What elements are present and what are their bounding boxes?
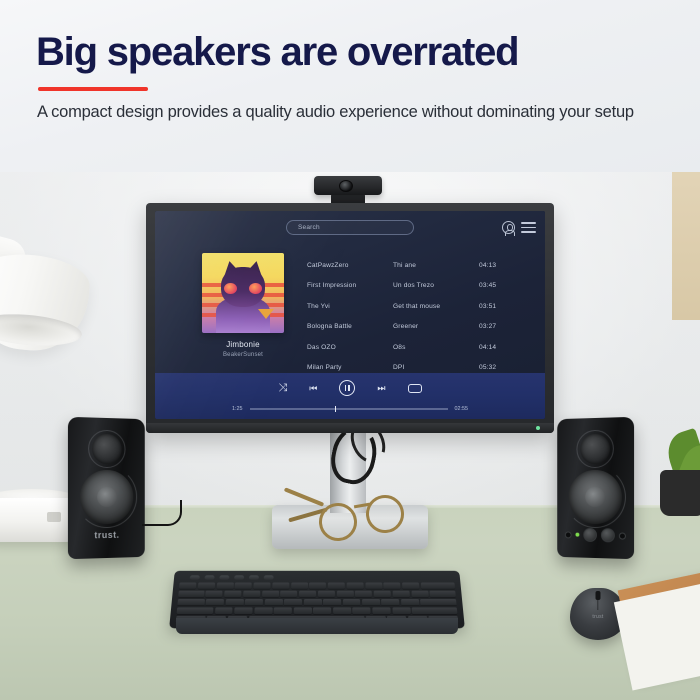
keyboard-row [178,591,456,598]
table-row[interactable]: CatPawzZero Thi ane 04:13 [307,255,531,276]
left-speaker: trust. [68,417,145,559]
track-time: 04:13 [479,262,519,269]
playback-controls: ⤨ ⏮ ⏭ [155,380,545,396]
track-time: 03:51 [479,303,519,310]
keyboard-fn-row [180,575,454,580]
page-title: Big speakers are overrated [36,30,518,75]
album-title: Jimbonie [226,340,260,349]
right-speaker [557,417,634,559]
keyboard-palm-rest [176,618,458,634]
lamp-switch[interactable] [47,512,61,522]
app-topbar: Search [155,211,545,245]
track-time: 05:32 [479,364,519,371]
table-row[interactable]: Bologna Battle Greener 03:27 [307,317,531,338]
search-input[interactable]: Search [286,220,414,235]
speaker-cable [142,500,182,526]
track-time: 03:27 [479,323,519,330]
search-placeholder: Search [287,224,320,231]
page-subtitle: A compact design provides a quality audi… [37,102,657,122]
plant-pot [660,470,700,516]
speaker-controls [563,523,628,546]
track-time: 03:45 [479,282,519,289]
now-playing-panel: Jimbonie BeakerSunset [189,253,297,358]
track-name: First Impression [307,282,393,289]
table-row[interactable]: First Impression Un dos Trezo 03:45 [307,276,531,297]
repeat-icon[interactable] [408,384,422,393]
keyboard-row [177,599,456,606]
volume-knob[interactable] [583,528,597,542]
speaker-brand-logo: trust. [94,530,119,541]
track-name: The Yvi [307,303,393,310]
track-album: Thi ane [393,262,479,269]
track-name: Das OZO [307,344,393,351]
next-track-icon[interactable]: ⏭ [377,384,385,393]
accent-underline [38,87,148,91]
desktop-monitor: Search [146,203,554,433]
track-album: O8s [393,344,479,351]
headphone-jack[interactable] [565,531,572,538]
keyboard-keys [177,575,458,615]
power-led-icon [536,426,540,430]
monitor-screen: Search [155,211,545,419]
elapsed-time: 1:25 [232,406,243,412]
hamburger-menu-icon[interactable] [521,222,536,233]
keyboard-row [177,607,458,614]
player-bar: ⤨ ⏮ ⏭ 1:25 02:55 [155,373,545,419]
woofer-dome [585,487,605,507]
tweeter-driver [92,434,122,465]
track-name: CatPawzZero [307,262,393,269]
account-circle-icon[interactable] [502,221,515,234]
track-time: 04:14 [479,344,519,351]
shuffle-icon[interactable]: ⤨ [278,383,287,394]
pause-button[interactable] [339,380,355,396]
progress-area: 1:25 02:55 [155,406,545,412]
keyboard-row [179,582,455,589]
track-album: Un dos Trezo [393,282,479,289]
duration-time: 02:55 [455,406,469,412]
cat-eye-icon [249,283,262,294]
woofer-driver [569,470,622,525]
mouse-brand-logo: trust [592,614,603,620]
power-led-icon [575,533,579,537]
track-album: DPI [393,364,479,371]
previous-track-icon[interactable]: ⏮ [309,384,317,393]
music-player-app: Search [155,211,545,419]
cat-eye-icon [224,283,237,294]
table-row[interactable]: The Yvi Get that mouse 03:51 [307,296,531,317]
track-name: Bologna Battle [307,323,393,330]
table-row[interactable]: Das OZO O8s 04:14 [307,337,531,358]
triangle-icon [258,309,274,319]
track-name: Milan Party [307,364,393,371]
woofer-dome [97,487,117,507]
camera-lens-icon [339,180,353,192]
header-banner: Big speakers are overrated A compact des… [0,0,700,172]
woofer-driver [80,470,133,525]
album-artist: BeakerSunset [223,352,263,358]
bass-knob[interactable] [601,528,615,542]
track-album: Get that mouse [393,303,479,310]
progress-slider[interactable] [250,408,448,409]
scroll-wheel[interactable] [596,591,601,600]
scene: Search [0,0,700,700]
aux-jack[interactable] [619,532,626,539]
album-artwork[interactable] [202,253,284,333]
track-album: Greener [393,323,479,330]
monitor-chin [146,423,554,433]
